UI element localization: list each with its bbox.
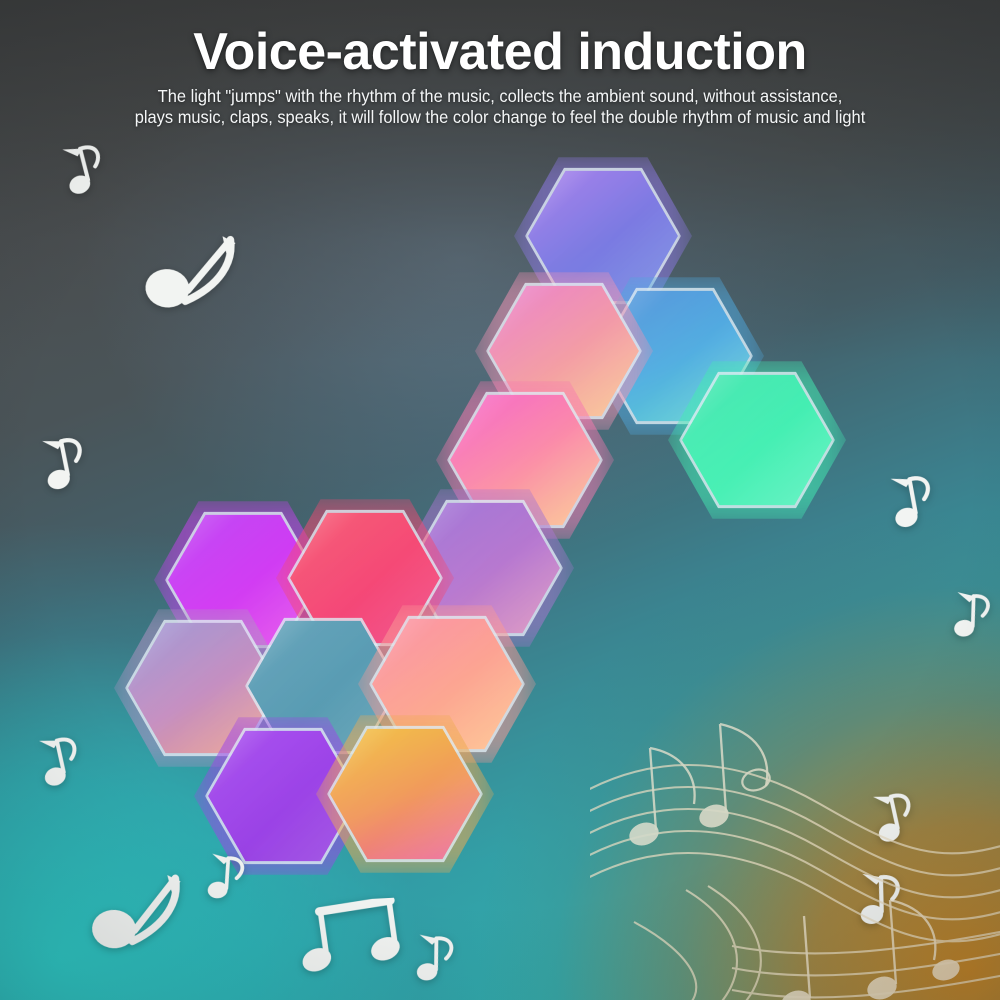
- background-vignette: [0, 0, 1000, 1000]
- subtitle-block: The light "jumps" with the rhythm of the…: [86, 86, 913, 128]
- product-marketing-image: Voice-activated induction The light "jum…: [0, 0, 1000, 1000]
- subtitle-line-2: plays music, claps, speaks, it will foll…: [86, 107, 913, 128]
- page-title: Voice-activated induction: [0, 22, 1000, 82]
- subtitle-line-1: The light "jumps" with the rhythm of the…: [86, 86, 913, 107]
